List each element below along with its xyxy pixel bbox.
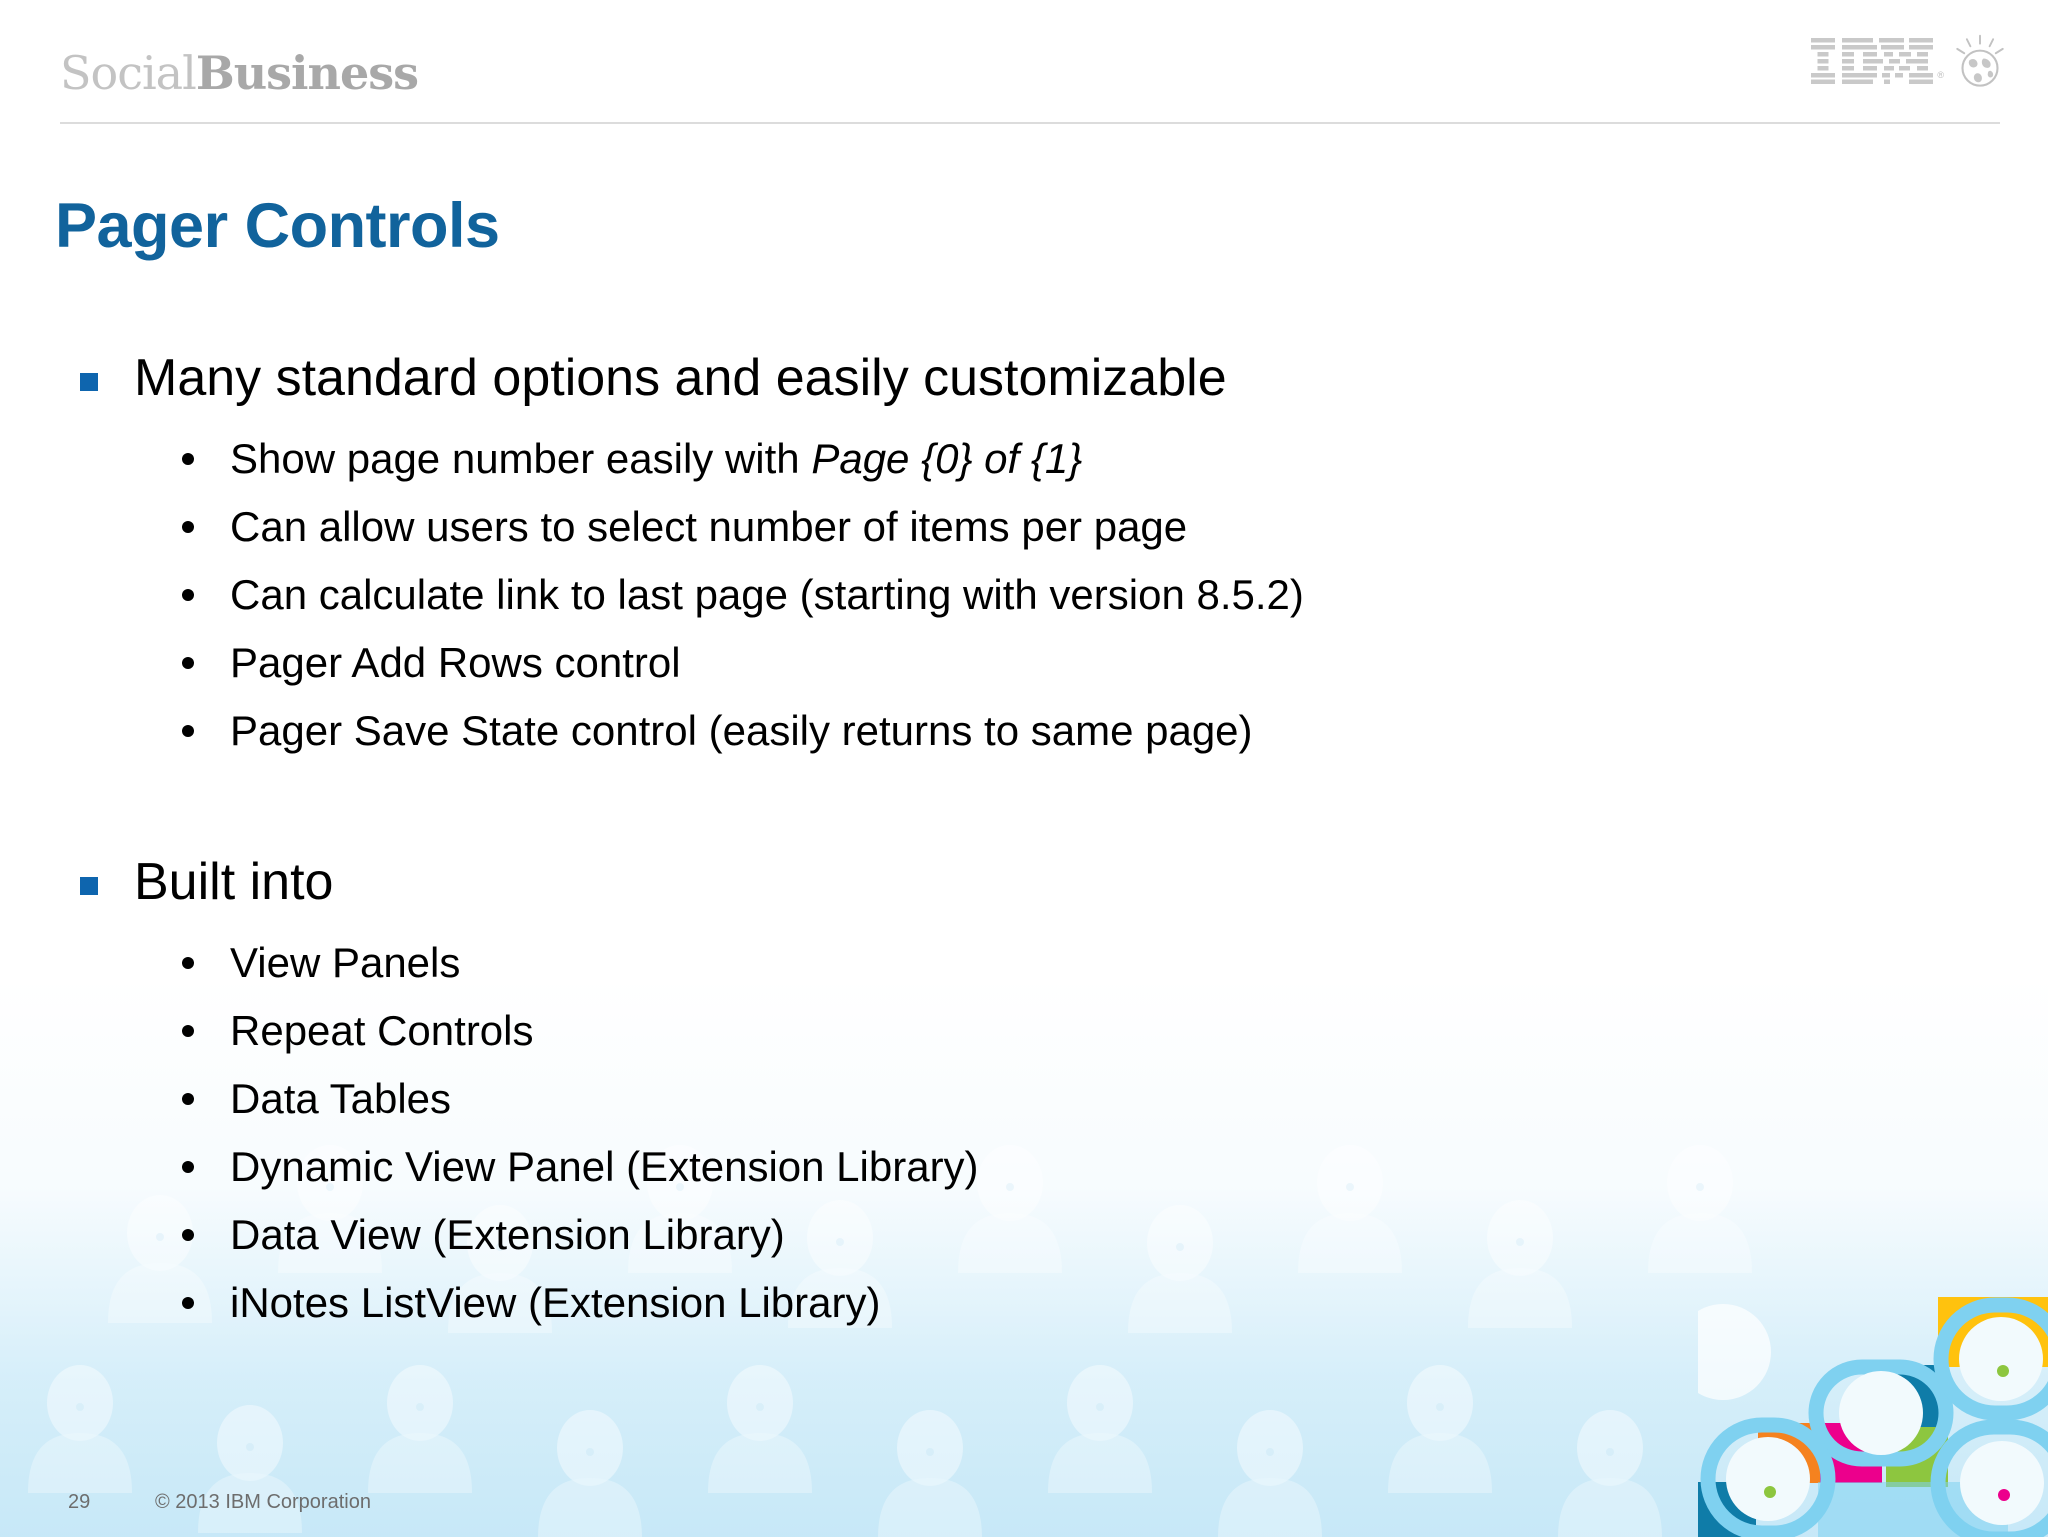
content-section: Built into View Panels Repeat Controls D… — [0, 849, 1500, 1337]
dot-bullet-icon — [182, 1229, 194, 1241]
header-divider — [60, 122, 2000, 124]
slide: SocialBusiness — [0, 0, 2048, 1537]
bullet-level2-label: Data Tables — [230, 1065, 451, 1133]
bullet-level2: View Panels — [182, 929, 1500, 997]
bullet-level1-label: Built into — [134, 849, 333, 915]
dot-bullet-icon — [182, 1297, 194, 1309]
bullet-level2: iNotes ListView (Extension Library) — [182, 1269, 1500, 1337]
ibm-logo-icon — [1811, 38, 1933, 84]
dot-bullet-icon — [182, 1161, 194, 1173]
dot-bullet-icon — [182, 657, 194, 669]
bullet-level2-label: Repeat Controls — [230, 997, 534, 1065]
page-number: 29 — [68, 1491, 90, 1514]
bullet-level1: Built into — [0, 849, 1500, 915]
bullet-level2: Can calculate link to last page (startin… — [182, 561, 1500, 629]
bullet-level2: Pager Add Rows control — [182, 629, 1500, 697]
social-business-logo: SocialBusiness — [60, 50, 418, 96]
section-spacer — [0, 765, 1500, 849]
logo-business-text: Business — [196, 46, 418, 100]
bullet-level2-label: iNotes ListView (Extension Library) — [230, 1269, 881, 1337]
bullet-level2-label: Pager Save State control (easily returns… — [230, 697, 1253, 765]
bullet-text-italic: Page {0} of {1} — [811, 435, 1082, 482]
bullet-level2: Show page number easily with Page {0} of… — [182, 425, 1500, 493]
bullet-level2: Repeat Controls — [182, 997, 1500, 1065]
bullet-level2-label: Data View (Extension Library) — [230, 1201, 785, 1269]
dot-bullet-icon — [182, 521, 194, 533]
bullet-level2: Pager Save State control (easily returns… — [182, 697, 1500, 765]
dot-bullet-icon — [182, 957, 194, 969]
bullet-level1-label: Many standard options and easily customi… — [134, 345, 1227, 411]
dot-bullet-icon — [182, 1025, 194, 1037]
square-bullet-icon — [80, 373, 98, 391]
slide-header: SocialBusiness — [0, 0, 2048, 126]
bullet-level2-label: View Panels — [230, 929, 460, 997]
bullet-level2: Data View (Extension Library) — [182, 1201, 1500, 1269]
bullet-level2-label: Dynamic View Panel (Extension Library) — [230, 1133, 979, 1201]
dot-bullet-icon — [182, 725, 194, 737]
bullet-level2: Can allow users to select number of item… — [182, 493, 1500, 561]
bullet-level2-label: Pager Add Rows control — [230, 629, 681, 697]
content-section: Many standard options and easily customi… — [0, 345, 1500, 765]
page-title: Pager Controls — [55, 190, 500, 262]
dot-bullet-icon — [182, 453, 194, 465]
dot-bullet-icon — [182, 1093, 194, 1105]
bullet-level2-label: Can calculate link to last page (startin… — [230, 561, 1304, 629]
logo-social-text: Social — [60, 46, 196, 100]
bullet-level2: Data Tables — [182, 1065, 1500, 1133]
bullet-level2-label: Can allow users to select number of item… — [230, 493, 1187, 561]
copyright-text: © 2013 IBM Corporation — [155, 1491, 371, 1514]
dot-bullet-icon — [182, 589, 194, 601]
square-bullet-icon — [80, 877, 98, 895]
bullet-level2-label: Show page number easily with Page {0} of… — [230, 425, 1082, 493]
bullet-level1: Many standard options and easily customi… — [0, 345, 1500, 411]
bullet-level2: Dynamic View Panel (Extension Library) — [182, 1133, 1500, 1201]
slide-body: Many standard options and easily customi… — [0, 345, 1500, 1337]
bullet-text-plain: Show page number easily with — [230, 435, 811, 482]
smarter-planet-globe-icon — [1952, 34, 2008, 90]
ibm-people-pattern-graphic — [1698, 1297, 2048, 1537]
ibm-registered-mark: ® — [1937, 70, 1944, 80]
